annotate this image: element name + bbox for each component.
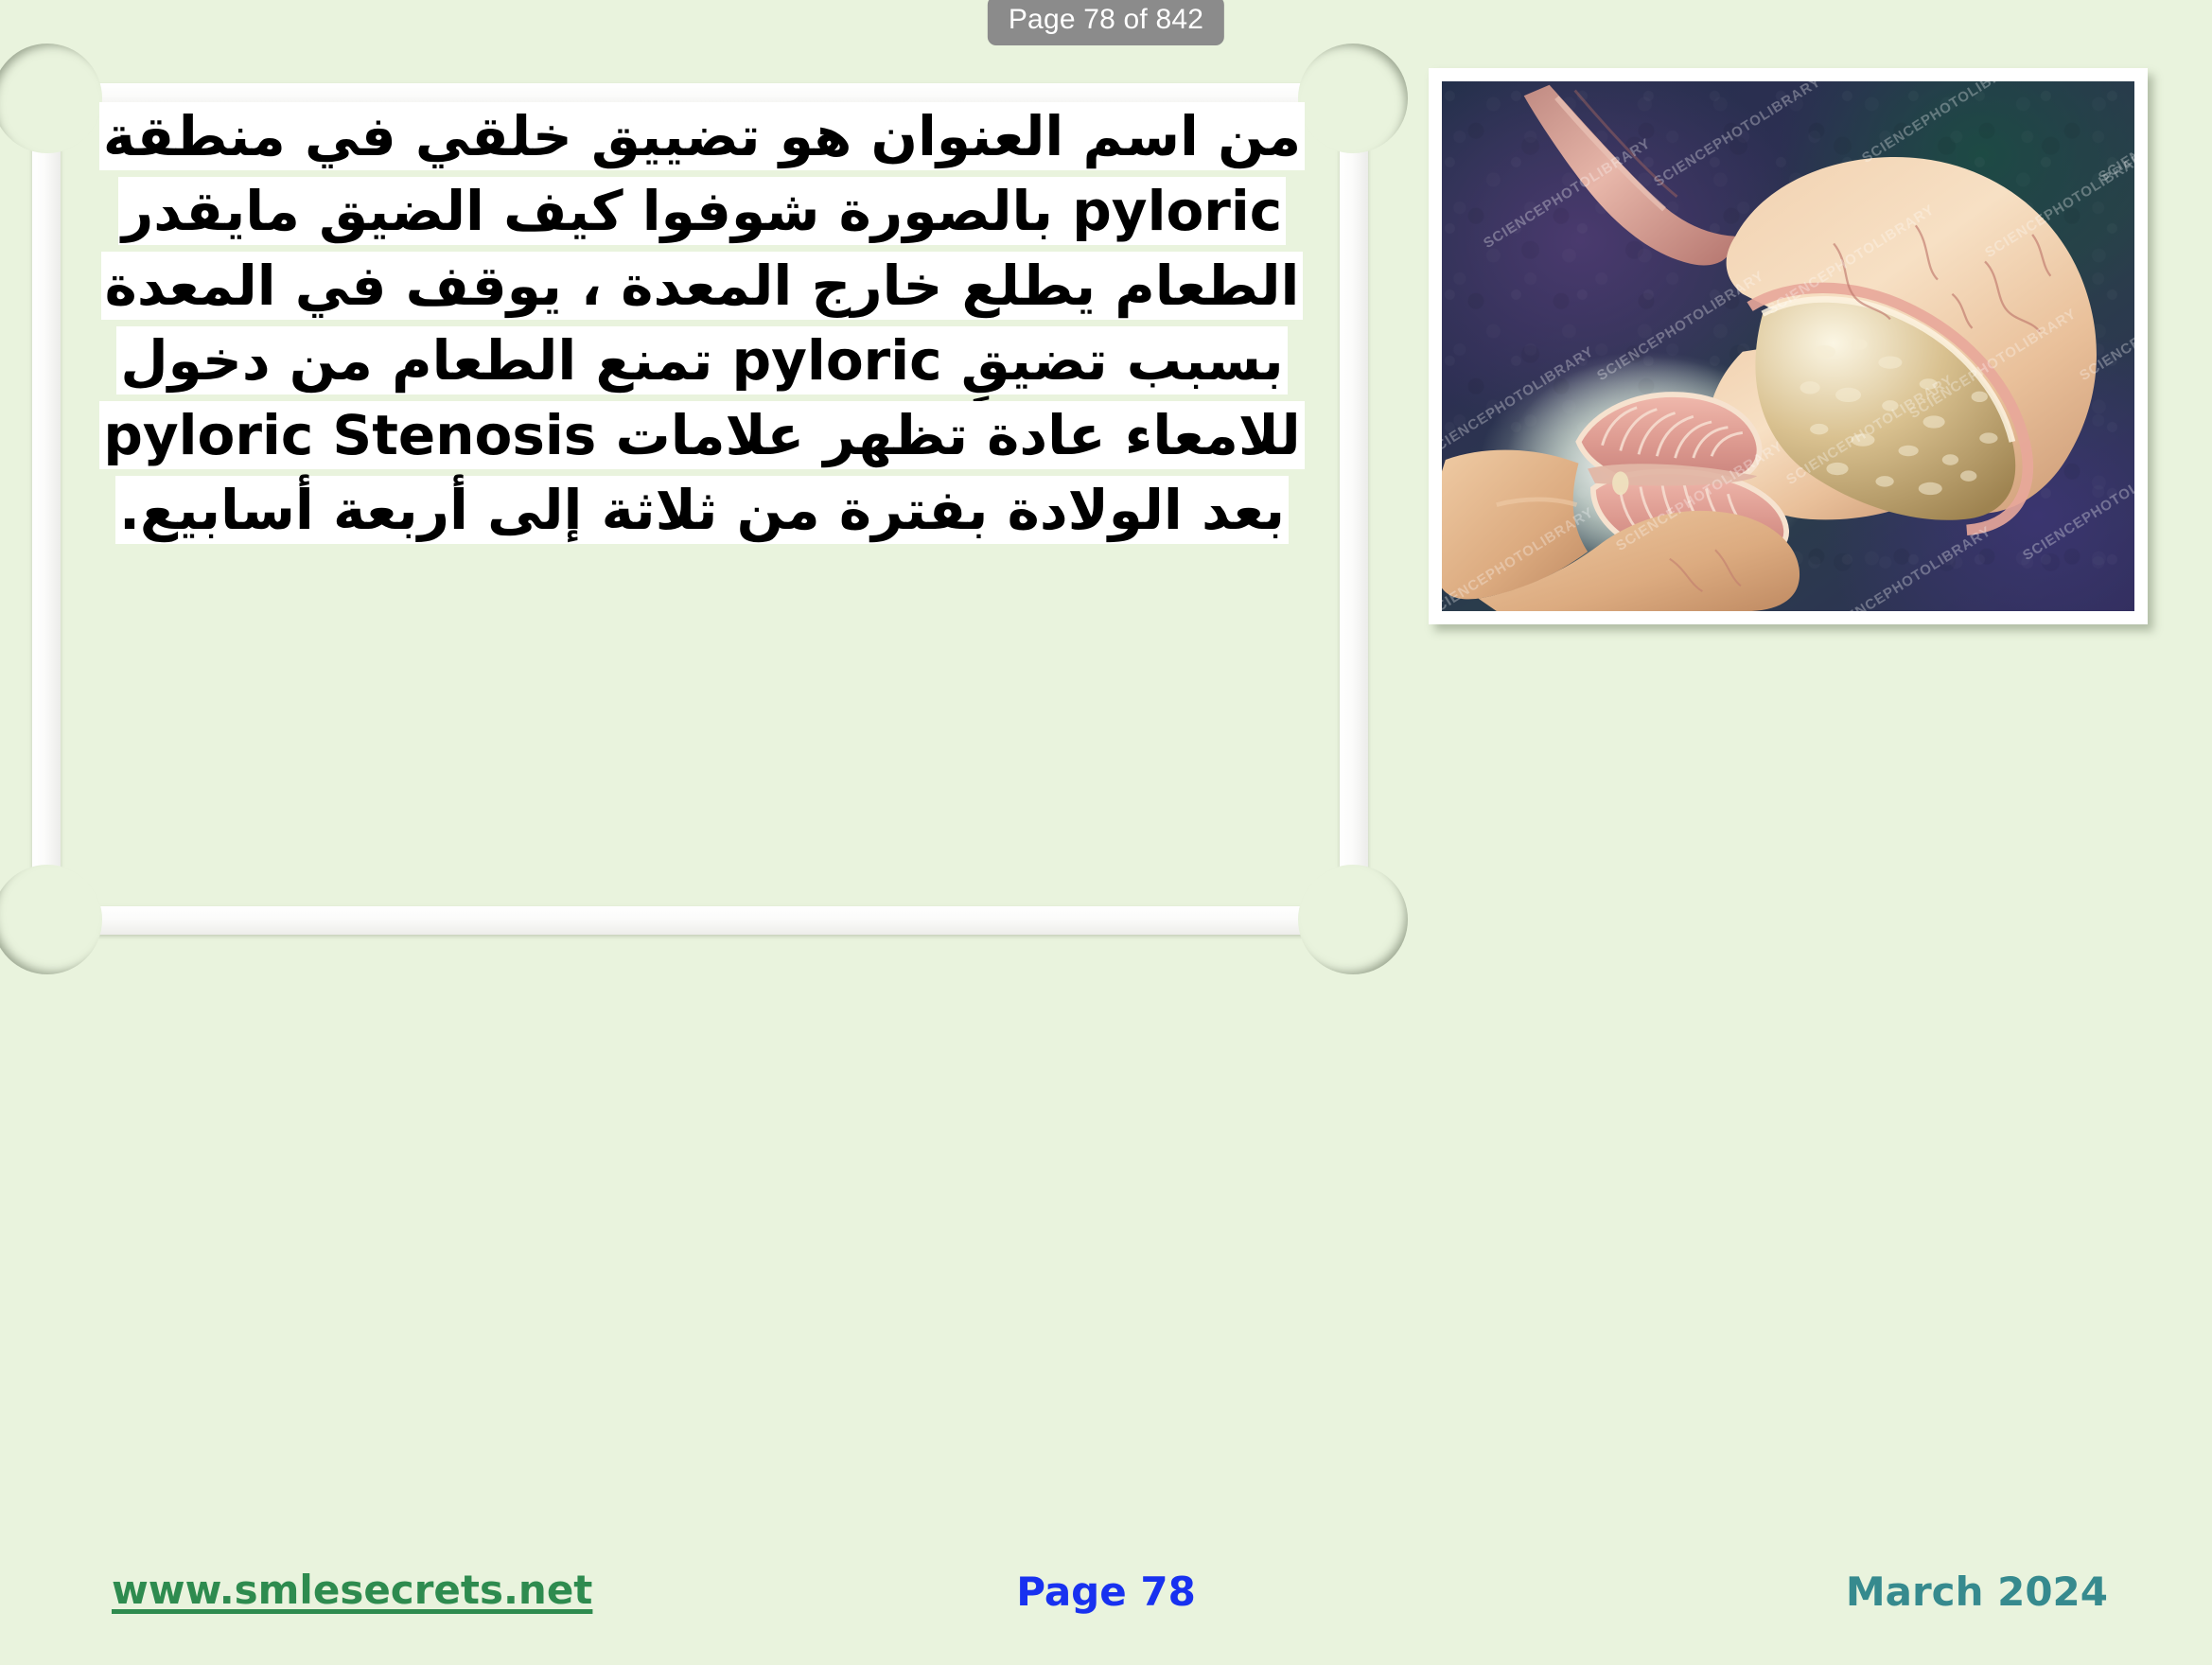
frame-corner-bottom-right bbox=[1298, 865, 1408, 974]
illustration-frame: SCIENCEPHOTOLIBRARY SCIENCEPHOTOLIBRARY … bbox=[1429, 68, 2148, 624]
website-link[interactable]: www.smlesecrets.net bbox=[112, 1567, 592, 1613]
arabic-text-line: من اسم العنوان هو تضييق خلقي في منطقة bbox=[59, 99, 1345, 174]
pyloric-stenosis-illustration: SCIENCEPHOTOLIBRARY SCIENCEPHOTOLIBRARY … bbox=[1442, 81, 2134, 611]
arabic-line-text: للامعاء عادة تظهر علامات pyloric Stenosi… bbox=[99, 401, 1304, 469]
arabic-line-text: pyloric بالصورة شوفوا كيف الضيق مايقدر bbox=[118, 177, 1286, 245]
frame-border-bottom bbox=[57, 906, 1343, 935]
frame-border-left bbox=[32, 108, 61, 910]
arabic-text-line: بعد الولادة بفترة من ثلاثة إلى أربعة أسا… bbox=[59, 473, 1345, 548]
slide-footer: www.smlesecrets.net Page 78 March 2024 bbox=[0, 1561, 2212, 1627]
arabic-line-text: من اسم العنوان هو تضييق خلقي في منطقة bbox=[99, 102, 1305, 170]
arabic-text-line: للامعاء عادة تظهر علامات pyloric Stenosi… bbox=[59, 398, 1345, 473]
arabic-text-line: الطعام يطلع خارج المعدة ، يوقف في المعدة bbox=[59, 249, 1345, 324]
arabic-line-text: بسبب تضيقٍ pyloric تمنع الطعام من دخول bbox=[116, 326, 1287, 394]
arabic-paragraph: من اسم العنوان هو تضييق خلقي في منطقة py… bbox=[59, 99, 1345, 548]
arabic-line-text: بعد الولادة بفترة من ثلاثة إلى أربعة أسا… bbox=[115, 476, 1289, 544]
arabic-text-line: بسبب تضيقٍ pyloric تمنع الطعام من دخول bbox=[59, 324, 1345, 398]
footer-date: March 2024 bbox=[1846, 1569, 2108, 1615]
stomach-anatomy-drawing bbox=[1442, 81, 2134, 611]
arabic-text-line: pyloric بالصورة شوفوا كيف الضيق مايقدر bbox=[59, 174, 1345, 249]
footer-page-number: Page 78 bbox=[1016, 1569, 1196, 1615]
frame-corner-bottom-left bbox=[0, 865, 102, 974]
arabic-line-text: الطعام يطلع خارج المعدة ، يوقف في المعدة bbox=[101, 252, 1304, 320]
page-indicator-badge: Page 78 of 842 bbox=[988, 0, 1224, 45]
